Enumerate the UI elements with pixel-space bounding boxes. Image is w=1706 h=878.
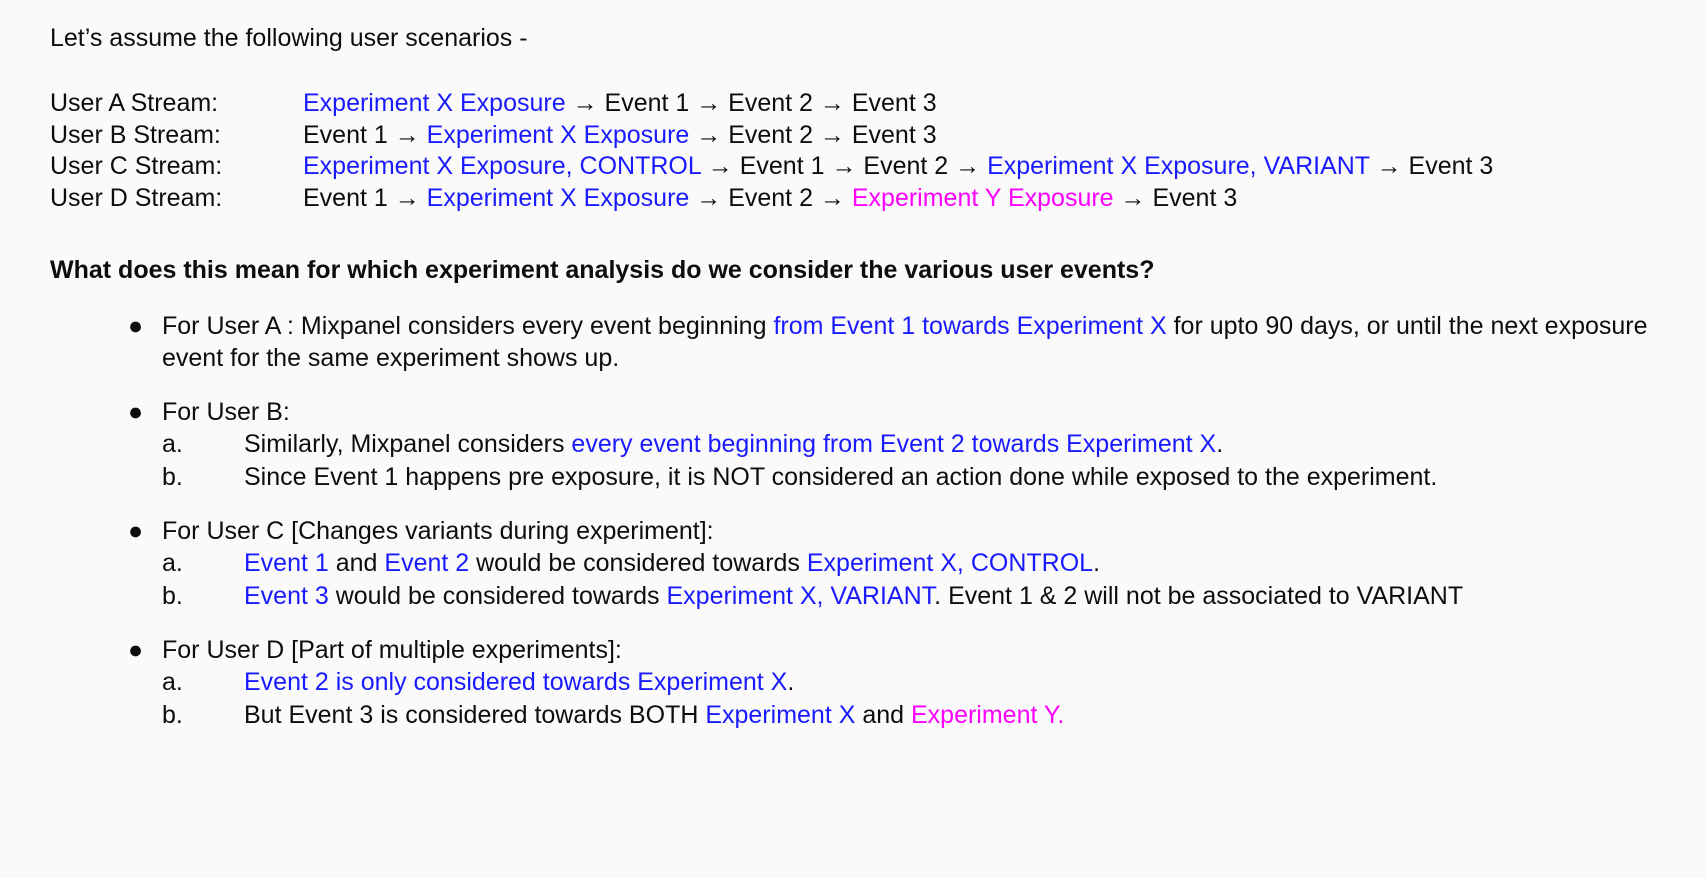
list-item-user-d: ● For User D [Part of multiple experimen… [50, 634, 1682, 731]
stream-b-post: → Event 2 → Event 3 [689, 121, 936, 149]
user-d-sub-b: b.But Event 3 is considered towards BOTH… [162, 699, 1682, 732]
user-c-a-text: would be considered towards [469, 549, 807, 577]
user-c-heading: For User C [Changes variants during expe… [162, 515, 1682, 547]
bullet-dot-icon: ● [128, 396, 143, 428]
user-d-b-text: But Event 3 is considered towards BOTH [244, 701, 705, 729]
stream-row-user-b: User B Stream: Event 1 → Experiment X Ex… [50, 120, 1682, 152]
stream-c-mid: → Event 1 → Event 2 → [701, 152, 987, 180]
list-item-user-c: ● For User C [Changes variants during ex… [50, 515, 1682, 612]
stream-d-pre: Event 1 → [303, 184, 427, 212]
sub-marker-a: a. [162, 547, 183, 580]
stream-label-user-b: User B Stream: [50, 120, 303, 152]
user-d-sublist: a.Event 2 is only considered towards Exp… [162, 666, 1682, 731]
user-c-sub-a: a.Event 1 and Event 2 would be considere… [162, 547, 1682, 580]
user-analysis-list: ● For User A : Mixpanel considers every … [50, 310, 1682, 731]
user-streams-block: User A Stream: Experiment X Exposure → E… [50, 88, 1682, 214]
stream-b-pre: Event 1 → [303, 121, 427, 149]
stream-c-exposure-control: Experiment X Exposure, CONTROL [303, 152, 701, 180]
stream-label-user-a: User A Stream: [50, 88, 303, 120]
stream-b-exposure: Experiment X Exposure [427, 121, 690, 149]
user-c-a-event2: Event 2 [384, 549, 469, 577]
sub-marker-a: a. [162, 428, 183, 461]
list-item-user-b: ● For User B: a.Similarly, Mixpanel cons… [50, 396, 1682, 493]
user-a-text-1: For User A : Mixpanel considers every ev… [162, 312, 773, 340]
bullet-dot-icon: ● [128, 515, 143, 547]
stream-flow-user-b: Event 1 → Experiment X Exposure → Event … [303, 120, 937, 152]
user-d-heading: For User D [Part of multiple experiments… [162, 634, 1682, 666]
intro-paragraph: Let’s assume the following user scenario… [50, 22, 1682, 54]
stream-c-post: → Event 3 [1370, 152, 1494, 180]
user-b-a-text-2: . [1216, 430, 1223, 458]
user-c-b-tail: . Event 1 & 2 will not be associated to … [934, 582, 1463, 610]
user-c-a-control: Experiment X, CONTROL [807, 549, 1093, 577]
user-b-sublist: a.Similarly, Mixpanel considers every ev… [162, 428, 1682, 493]
sub-marker-b: b. [162, 580, 183, 613]
stream-d-exposure-y: Experiment Y Exposure [852, 184, 1114, 212]
user-a-description: For User A : Mixpanel considers every ev… [162, 310, 1682, 374]
user-b-sub-b: b.Since Event 1 happens pre exposure, it… [162, 461, 1682, 494]
user-c-b-variant: Experiment X, VARIANT [666, 582, 934, 610]
stream-d-exposure-x: Experiment X Exposure [427, 184, 690, 212]
section-question-heading: What does this mean for which experiment… [50, 254, 1682, 286]
user-c-b-event3: Event 3 [244, 582, 329, 610]
user-c-a-and: and [329, 549, 385, 577]
sub-marker-b: b. [162, 461, 183, 494]
user-c-b-text: would be considered towards [329, 582, 667, 610]
user-d-b-and: and [855, 701, 911, 729]
user-c-sublist: a.Event 1 and Event 2 would be considere… [162, 547, 1682, 612]
user-d-b-exp-x: Experiment X [705, 701, 855, 729]
stream-row-user-a: User A Stream: Experiment X Exposure → E… [50, 88, 1682, 120]
stream-label-user-d: User D Stream: [50, 183, 303, 215]
stream-d-mid: → Event 2 → [689, 184, 852, 212]
user-b-b-text: Since Event 1 happens pre exposure, it i… [244, 463, 1437, 491]
stream-a-events: → Event 1 → Event 2 → Event 3 [566, 89, 937, 117]
user-a-highlight: from Event 1 towards Experiment X [773, 312, 1166, 340]
stream-label-user-c: User C Stream: [50, 151, 303, 183]
stream-c-exposure-variant: Experiment X Exposure, VARIANT [987, 152, 1370, 180]
user-d-b-exp-y: Experiment Y. [911, 701, 1064, 729]
stream-flow-user-a: Experiment X Exposure → Event 1 → Event … [303, 88, 937, 120]
stream-row-user-d: User D Stream: Event 1 → Experiment X Ex… [50, 183, 1682, 215]
sub-marker-b: b. [162, 699, 183, 732]
user-d-sub-a: a.Event 2 is only considered towards Exp… [162, 666, 1682, 699]
user-b-heading: For User B: [162, 396, 1682, 428]
user-b-a-highlight: every event beginning from Event 2 towar… [571, 430, 1216, 458]
stream-flow-user-d: Event 1 → Experiment X Exposure → Event … [303, 183, 1237, 215]
user-c-a-event1: Event 1 [244, 549, 329, 577]
stream-flow-user-c: Experiment X Exposure, CONTROL → Event 1… [303, 151, 1493, 183]
stream-d-post: → Event 3 [1114, 184, 1238, 212]
user-b-sub-a: a.Similarly, Mixpanel considers every ev… [162, 428, 1682, 461]
stream-row-user-c: User C Stream: Experiment X Exposure, CO… [50, 151, 1682, 183]
sub-marker-a: a. [162, 666, 183, 699]
user-b-a-text-1: Similarly, Mixpanel considers [244, 430, 571, 458]
list-item-user-a: ● For User A : Mixpanel considers every … [50, 310, 1682, 374]
bullet-dot-icon: ● [128, 634, 143, 666]
stream-a-exposure: Experiment X Exposure [303, 89, 566, 117]
user-d-a-highlight: Event 2 is only considered towards Exper… [244, 668, 787, 696]
document-page: Let’s assume the following user scenario… [0, 0, 1706, 731]
user-d-a-period: . [787, 668, 794, 696]
user-c-sub-b: b.Event 3 would be considered towards Ex… [162, 580, 1682, 613]
user-c-a-period: . [1093, 549, 1100, 577]
bullet-dot-icon: ● [128, 310, 143, 342]
